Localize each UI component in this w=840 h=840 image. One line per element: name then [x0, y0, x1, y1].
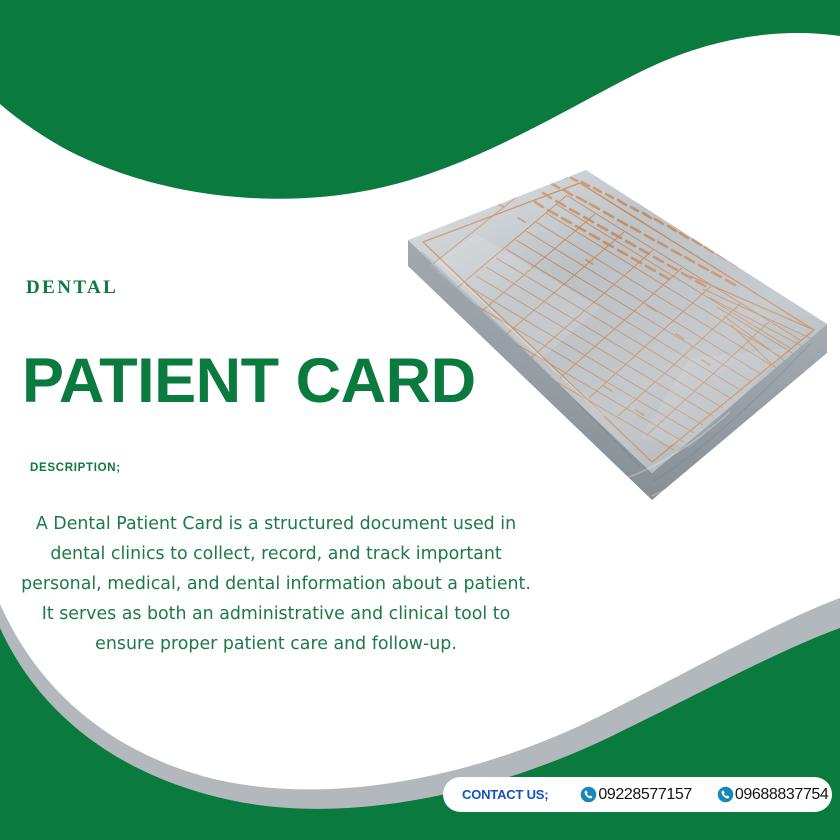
- contact-bar[interactable]: CONTACT US; 09228577157 09688837754: [443, 777, 832, 812]
- poster-canvas: DENTAL PATIENT CARD DESCRIPTION; A Denta…: [0, 0, 840, 840]
- description-label: DESCRIPTION;: [30, 462, 121, 474]
- description-body: A Dental Patient Card is a structured do…: [16, 509, 536, 659]
- phone-icon: [717, 786, 734, 803]
- contact-phone-2[interactable]: 09688837754: [717, 786, 828, 804]
- kicker-dental: DENTAL: [26, 278, 118, 297]
- phone-icon: [580, 786, 597, 803]
- contact-label: CONTACT US;: [462, 787, 548, 802]
- phone-number-1: 09228577157: [598, 786, 691, 804]
- contact-phone-1[interactable]: 09228577157: [580, 786, 691, 804]
- phone-number-2: 09688837754: [735, 786, 828, 804]
- product-image-card-stack: [390, 148, 840, 510]
- page-title: PATIENT CARD: [22, 348, 476, 414]
